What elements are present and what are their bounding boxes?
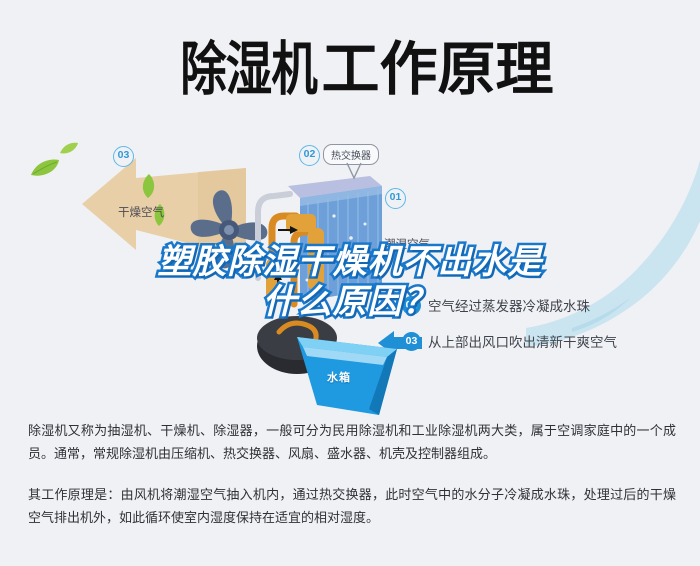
- leaf-icon: [140, 174, 157, 198]
- article-body: 除湿机又称为抽湿机、干燥机、除湿器，一般可分为民用除湿机和工业除湿机两大类，属于…: [28, 420, 676, 530]
- article-paragraph-1: 除湿机又称为抽湿机、干燥机、除湿器，一般可分为民用除湿机和工业除湿机两大类，属于…: [28, 420, 676, 466]
- page-title: 除湿机 工作原理: [0, 0, 700, 128]
- leaf-icon: [30, 158, 60, 178]
- title-row: 除湿机 工作原理: [146, 22, 553, 106]
- legend-item-label: 空气经过蒸发器冷凝成水珠: [428, 295, 590, 315]
- article-paragraph-2: 其工作原理是：由风机将潮湿空气抽入机内，通过热交换器，此时空气中的水分子冷凝成水…: [28, 484, 676, 530]
- badge-step-02-diagram: 02: [299, 145, 320, 166]
- leaf-icon: [60, 142, 78, 155]
- infographic-page: 除湿机 工作原理: [0, 0, 700, 566]
- legend-item: 02 空气经过蒸发器冷凝成水珠: [402, 295, 692, 315]
- water-tank-label: 水箱: [327, 369, 351, 385]
- legend-item-label: 从上部出风口吹出清新干爽空气: [428, 331, 617, 351]
- dry-air-label: 干燥空气: [118, 204, 164, 220]
- badge-step-03-diagram: 03: [113, 146, 134, 167]
- badge-step-02: 02: [402, 296, 421, 315]
- badge-step-01-diagram: 01: [385, 188, 406, 209]
- legend-item: 03 从上部出风口吹出清新干爽空气: [402, 331, 692, 351]
- humid-air-label: 潮湿空气: [384, 236, 430, 252]
- title-primary: 除湿机: [181, 22, 318, 106]
- callout-pointer-icon: [345, 162, 363, 180]
- badge-step-03: 03: [402, 332, 421, 351]
- dehumidifier-diagram: 水箱 03 干燥空气 02 热交换器 01 潮湿空气: [0, 126, 700, 416]
- title-secondary: 工作原理: [322, 22, 554, 106]
- steps-legend: 02 空气经过蒸发器冷凝成水珠 03 从上部出风口吹出清新干爽空气: [402, 295, 692, 367]
